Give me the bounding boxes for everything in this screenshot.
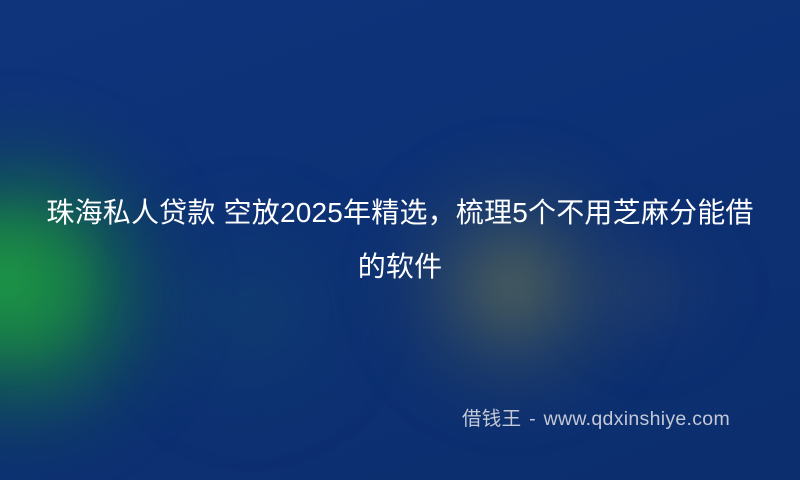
banner-canvas: 珠海私人贷款 空放2025年精选，梳理5个不用芝麻分能借的软件 借钱王 - ww… — [0, 0, 800, 480]
watermark-separator: - — [527, 408, 538, 430]
watermark: 借钱王 - www.qdxinshiye.com — [462, 405, 730, 433]
banner-headline: 珠海私人贷款 空放2025年精选，梳理5个不用芝麻分能借的软件 — [0, 186, 800, 294]
watermark-brand: 借钱王 — [462, 408, 521, 430]
watermark-domain: www.qdxinshiye.com — [544, 408, 730, 430]
